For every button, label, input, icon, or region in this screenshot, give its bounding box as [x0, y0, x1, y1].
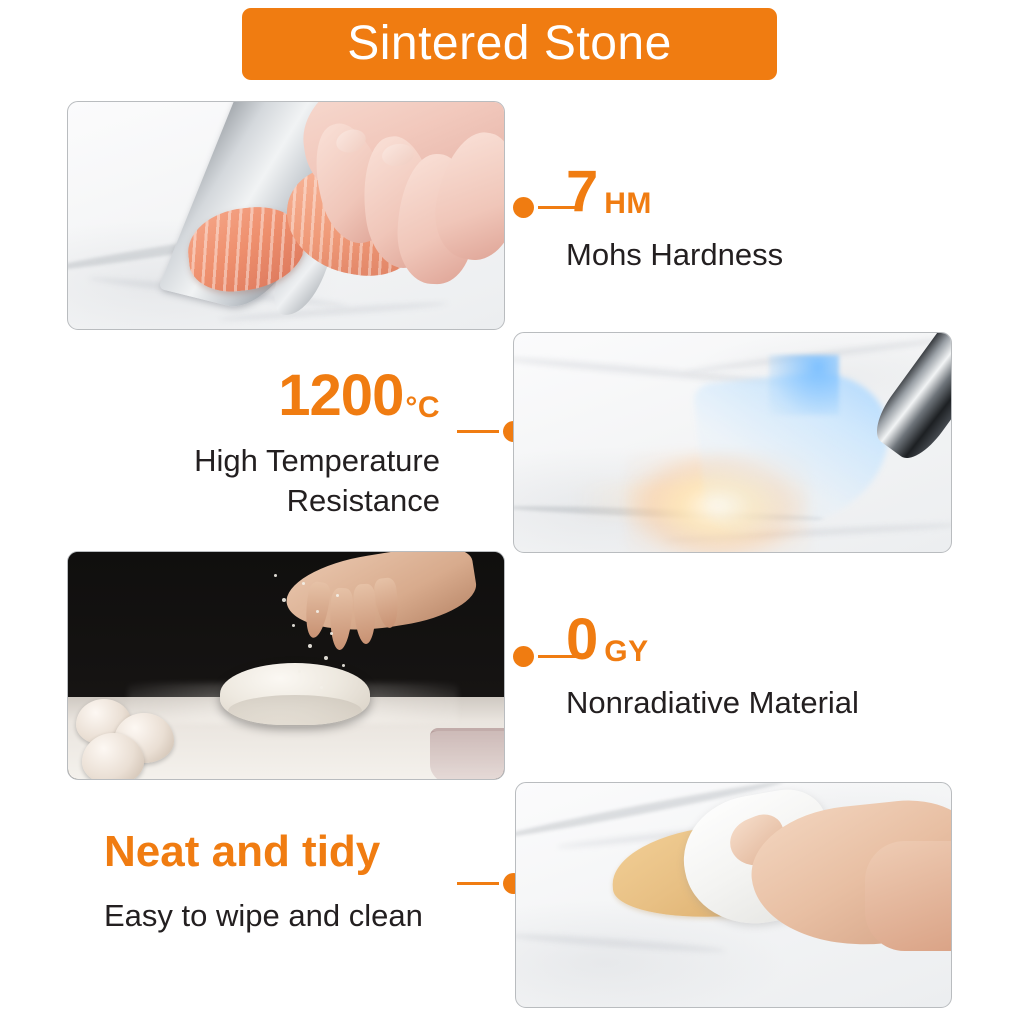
stat-value: 1200: [278, 367, 403, 425]
flour-speck: [302, 582, 305, 585]
scene-blowtorch: [514, 333, 951, 552]
marble-vein: [515, 931, 726, 954]
bowl: [430, 728, 505, 780]
stat-value-row: 7 HM: [566, 163, 783, 221]
connector-dot-icon: [513, 646, 534, 667]
connector-line: [457, 430, 499, 433]
stat-unit: HM: [604, 189, 652, 221]
stat-caption: Nonradiative Material: [566, 683, 859, 723]
infographic-canvas: Sintered Stone 7 HM Mohs Hardnes: [0, 0, 1018, 1018]
stat-neat-and-tidy: Neat and tidy Easy to wipe and clean: [104, 830, 423, 936]
photo-dough-flour: [67, 551, 505, 780]
flame-nozzle-glow: [769, 355, 839, 415]
stat-value: 7: [566, 163, 597, 221]
stat-unit: GY: [604, 637, 648, 669]
stat-headline: Neat and tidy: [104, 830, 423, 874]
photo-blowtorch-flame: [513, 332, 952, 553]
flour-speck: [342, 664, 345, 667]
stat-value-row: 1200 °C: [110, 367, 440, 425]
stat-nonradiative-material: 0 GY Nonradiative Material: [566, 611, 859, 723]
dough-fold: [228, 695, 362, 727]
stat-caption-line1: High Temperature: [110, 441, 440, 481]
wrist: [865, 841, 952, 951]
connector-line: [457, 882, 499, 885]
stat-caption-line2: Resistance: [110, 481, 440, 521]
flour-speck: [330, 632, 333, 635]
flour-speck: [292, 624, 295, 627]
scene-knife-cutting: [68, 102, 504, 329]
photo-knife-cutting-salmon: [67, 101, 505, 330]
connector-neat-and-tidy: [457, 872, 524, 894]
photo-wiping-spill: [515, 782, 952, 1008]
flour-speck: [316, 610, 319, 613]
flour-speck: [282, 598, 286, 602]
flour-speck: [320, 686, 323, 689]
page-title: Sintered Stone: [347, 20, 672, 68]
flour-speck: [324, 656, 328, 660]
stat-mohs-hardness: 7 HM Mohs Hardness: [566, 163, 783, 275]
flour-speck: [298, 670, 301, 673]
stat-unit: °C: [405, 393, 440, 425]
stat-high-temperature: 1200 °C High Temperature Resistance: [110, 367, 440, 520]
stat-caption: Mohs Hardness: [566, 235, 783, 275]
title-banner: Sintered Stone: [242, 8, 777, 80]
flour-speck: [308, 644, 312, 648]
stat-value: 0: [566, 611, 597, 669]
connector-dot-icon: [513, 197, 534, 218]
scene-dough: [68, 552, 504, 779]
stat-caption: Easy to wipe and clean: [104, 896, 423, 936]
stat-value-row: 0 GY: [566, 611, 859, 669]
scene-wiping: [516, 783, 951, 1007]
flour-speck: [336, 594, 339, 597]
flour-speck: [274, 574, 277, 577]
